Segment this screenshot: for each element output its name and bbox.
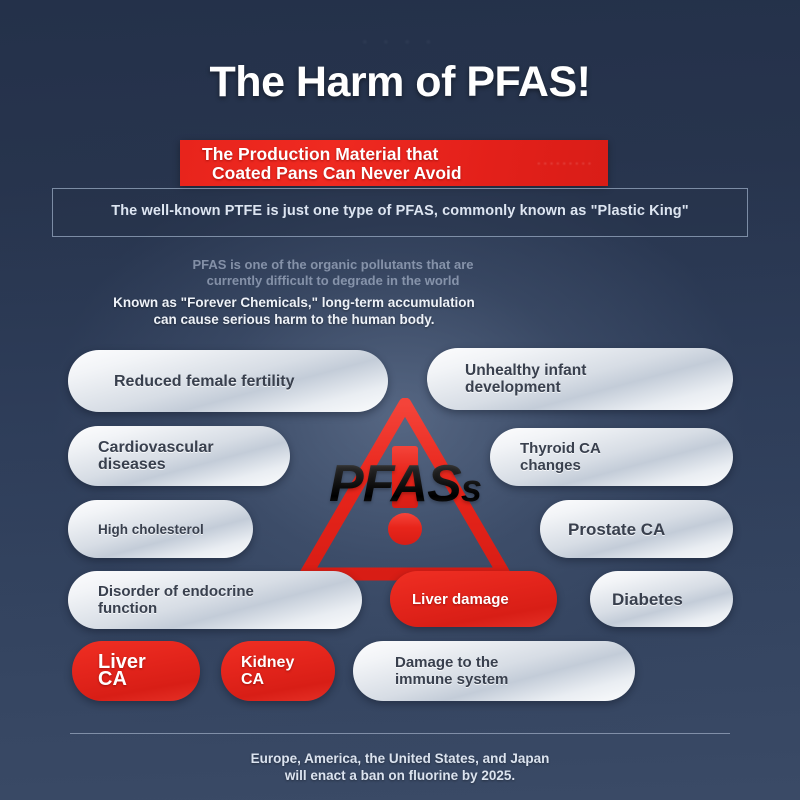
ptfe-note-box: The well-known PTFE is just one type of …	[52, 188, 748, 237]
harm-pill: Cardiovascular diseases	[68, 426, 290, 486]
footer-line-2: will enact a ban on fluorine by 2025.	[0, 767, 800, 784]
subtitle-faint-line-2: currently difficult to degrade in the wo…	[118, 273, 548, 289]
subtitle-strong-line-2: can cause serious harm to the human body…	[74, 311, 514, 328]
harm-pill-label: Liver damage	[390, 591, 509, 608]
harm-pill-label: Thyroid CA changes	[490, 440, 601, 474]
banner-line-1: The Production Material that	[202, 144, 438, 164]
pfass-main: PFAS	[329, 455, 461, 513]
page-title: The Harm of PFAS!	[0, 58, 800, 107]
harm-pill: Disorder of endocrine function	[68, 571, 362, 629]
harm-pill-label: Unhealthy infant development	[427, 362, 586, 396]
pfass-wordmark: PFASs	[298, 454, 512, 514]
footer-divider	[70, 733, 730, 734]
harm-pill-label: Damage to the immune system	[353, 654, 508, 688]
footer-line-1: Europe, America, the United States, and …	[251, 751, 550, 766]
red-banner: ········· The Production Material that C…	[180, 140, 608, 186]
harm-pill: High cholesterol	[68, 500, 253, 558]
harm-pill-label: High cholesterol	[68, 521, 204, 538]
footer-text: Europe, America, the United States, and …	[0, 750, 800, 784]
subtitle-strong: Known as "Forever Chemicals," long-term …	[74, 294, 514, 328]
harm-pill-label: Diabetes	[590, 591, 683, 608]
ptfe-note-text: The well-known PTFE is just one type of …	[53, 203, 747, 219]
harm-pill: Liver damage	[390, 571, 557, 627]
harm-pill: Diabetes	[590, 571, 733, 627]
harm-pill-label: Kidney CA	[221, 654, 294, 688]
pfass-suffix: s	[461, 468, 481, 510]
harm-pill-label: Reduced female fertility	[68, 373, 295, 390]
harm-pill-label: Prostate CA	[540, 521, 665, 538]
pfas-infographic-poster: · · · · The Harm of PFAS! ········· The …	[0, 0, 800, 800]
harm-pill-label: Disorder of endocrine function	[68, 583, 254, 617]
harm-pill-label: Liver CA	[72, 654, 146, 688]
harm-pill: Reduced female fertility	[68, 350, 388, 412]
harm-pill-label: Cardiovascular diseases	[68, 439, 214, 473]
top-watermark: · · · ·	[0, 34, 800, 51]
harm-pill: Kidney CA	[221, 641, 335, 701]
harm-pill: Damage to the immune system	[353, 641, 635, 701]
harm-pill: Liver CA	[72, 641, 200, 701]
subtitle-strong-line-1: Known as "Forever Chemicals," long-term …	[113, 295, 475, 310]
warning-triangle-icon: PFASs	[298, 398, 512, 584]
banner-text: The Production Material that Coated Pans…	[202, 145, 600, 183]
harm-pill: Prostate CA	[540, 500, 733, 558]
subtitle-faint: PFAS is one of the organic pollutants th…	[118, 257, 548, 289]
subtitle-faint-line-1: PFAS is one of the organic pollutants th…	[193, 257, 474, 272]
harm-pill: Thyroid CA changes	[490, 428, 733, 486]
harm-pill: Unhealthy infant development	[427, 348, 733, 410]
banner-line-2: Coated Pans Can Never Avoid	[202, 164, 600, 183]
